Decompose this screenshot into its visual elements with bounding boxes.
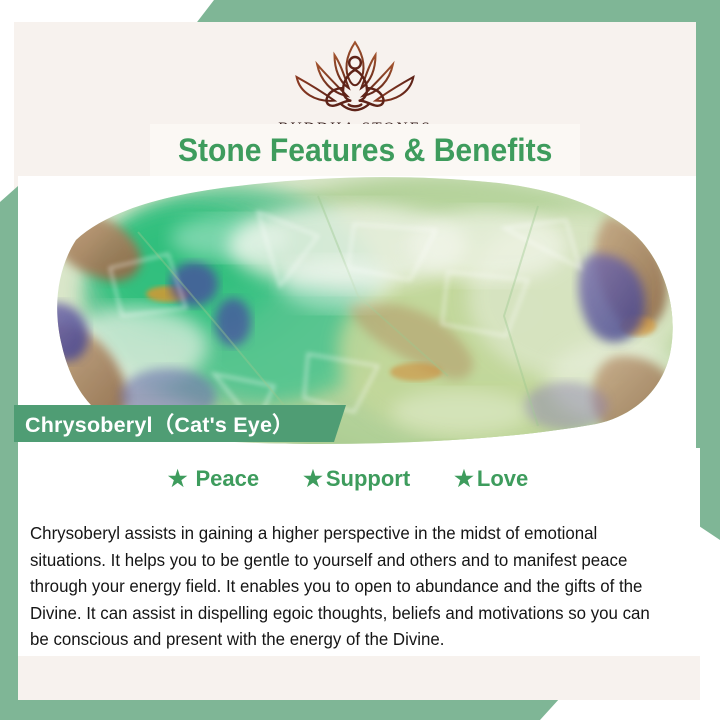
stone-description: Chrysoberyl assists in gaining a higher … xyxy=(30,520,670,653)
bottom-strip xyxy=(18,656,700,700)
keyword-row: ★ Peace ★ Support ★ Love xyxy=(18,462,678,496)
stone-name: Chrysoberyl（Cat's Eye） xyxy=(14,408,294,439)
star-icon: ★ xyxy=(168,468,188,490)
keyword-label: Peace xyxy=(195,466,259,492)
keyword-support: ★ Support xyxy=(303,466,410,492)
star-icon: ★ xyxy=(454,468,474,490)
keyword-peace: ★ Peace xyxy=(168,466,259,492)
page-title: Stone Features & Benefits xyxy=(178,132,552,169)
frame-left-accent xyxy=(0,186,18,720)
keyword-love: ★ Love xyxy=(454,466,528,492)
stone-info-card: BUDDHA STONES xyxy=(0,0,720,720)
keyword-label: Love xyxy=(477,466,528,492)
star-icon: ★ xyxy=(303,468,323,490)
keyword-label: Support xyxy=(326,466,410,492)
frame-bottom-accent xyxy=(0,698,720,720)
section-title-banner: Stone Features & Benefits xyxy=(150,124,580,176)
lotus-meditation-icon xyxy=(275,36,435,118)
stone-name-band: Chrysoberyl（Cat's Eye） xyxy=(14,405,346,442)
